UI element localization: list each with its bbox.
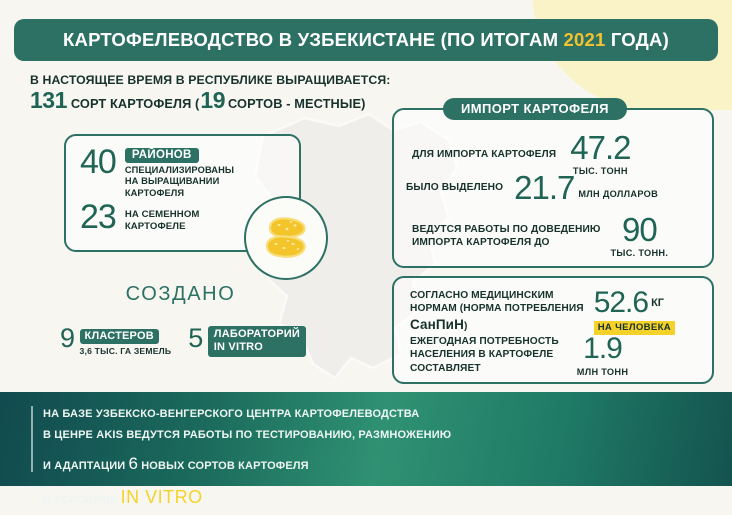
banner-in-vitro: IN VITRO	[121, 487, 203, 507]
import-volume-value: 47.2	[570, 132, 630, 163]
import-funds-label: БЫЛО ВЫДЕЛЕНО	[406, 181, 503, 194]
intro-block: В НАСТОЯЩЕЕ ВРЕМЯ В РЕСПУБЛИКЕ ВЫРАЩИВАЕ…	[30, 73, 390, 112]
districts-count-23: 23	[80, 200, 116, 234]
page-title: КАРТОФЕЛЕВОДСТВО В УЗБЕКИСТАНЕ (ПО ИТОГА…	[63, 29, 669, 51]
intro-line2: 131 СОРТ КАРТОФЕЛЯ ( 19 СОРТОВ - МЕСТНЫЕ…	[30, 90, 390, 112]
clusters-sublabel: 3,6 ТЫС. ГА ЗЕМЕЛЬ	[80, 346, 172, 356]
import-target-label: ВЕДУТСЯ РАБОТЫ ПО ДОВЕДЕНИЮИМПОРТА КАРТО…	[412, 223, 600, 250]
varieties-label: СОРТ КАРТОФЕЛЯ (	[71, 96, 200, 111]
norm-label-paren: )	[464, 321, 468, 332]
clusters-count: 9	[60, 326, 75, 351]
clusters-pill-label: КЛАСТЕРОВ	[80, 329, 159, 344]
created-items-row: 9 КЛАСТЕРОВ 3,6 ТЫС. ГА ЗЕМЕЛЬ 5 ЛАБОРАТ…	[60, 326, 306, 357]
potato-icon	[260, 215, 312, 261]
import-funds-value: 21.7	[514, 172, 574, 203]
norm-label-line2: НОРМАМ (НОРМА ПОТРЕБЛЕНИЯ	[410, 303, 584, 314]
norm-row-per-person: СОГЛАСНО МЕДИЦИНСКИМНОРМАМ (НОРМА ПОТРЕБ…	[410, 289, 675, 335]
seed-potato-description: НА СЕМЕННОМ КАРТОФЕЛЕ	[125, 209, 200, 234]
laboratories-pill-line1: ЛАБОРАТОРИЙ	[214, 328, 300, 340]
laboratories-pill-line2: IN VITRO	[214, 341, 263, 353]
districts-pill-label: РАЙОНОВ	[125, 148, 199, 164]
import-card-heading: ИМПОРТ КАРТОФЕЛЯ	[443, 98, 627, 120]
banner-line3-post: НОВЫХ СОРТОВ КАРТОФЕЛЯ	[138, 460, 309, 472]
banner-line1: НА БАЗЕ УЗБЕКСКО-ВЕНГЕРСКОГО ЦЕНТРА КАРТ…	[43, 404, 451, 425]
page-title-part2: ГОДА)	[606, 29, 669, 50]
varieties-count: 131	[30, 90, 67, 112]
import-row-target: ВЕДУТСЯ РАБОТЫ ПО ДОВЕДЕНИЮИМПОРТА КАРТО…	[412, 214, 668, 258]
created-item-clusters: 9 КЛАСТЕРОВ 3,6 ТЫС. ГА ЗЕМЕЛЬ	[60, 326, 171, 356]
import-target-label-line1: ВЕДУТСЯ РАБОТЫ ПО ДОВЕДЕНИЮ	[412, 224, 600, 235]
norm-unit: КГ	[651, 297, 664, 309]
annual-need-value: 1.9	[583, 335, 622, 364]
districts-count-40: 40	[80, 145, 116, 179]
banner-line4-pre: В УСЛОВИЯХ	[43, 494, 121, 506]
import-target-label-line2: ИМПОРТА КАРТОФЕЛЯ ДО	[412, 237, 550, 248]
banner-accent-line	[31, 406, 33, 472]
page-title-year: 2021	[564, 29, 606, 50]
created-item-laboratories: 5 ЛАБОРАТОРИЙIN VITRO	[188, 326, 306, 357]
import-volume-label: ДЛЯ ИМПОРТА КАРТОФЕЛЯ	[412, 148, 556, 161]
local-varieties-label: СОРТОВ - МЕСТНЫЕ)	[228, 96, 366, 111]
norm-label-line1: СОГЛАСНО МЕДИЦИНСКИМ	[410, 290, 554, 301]
norm-value: 52.6	[594, 289, 648, 318]
norm-row-annual-need: ЕЖЕГОДНАЯ ПОТРЕБНОСТЬНАСЕЛЕНИЯ В КАРТОФЕ…	[410, 335, 628, 377]
bottom-banner: НА БАЗЕ УЗБЕКСКО-ВЕНГЕРСКОГО ЦЕНТРА КАРТ…	[0, 392, 732, 486]
norm-label-sanpin: СанПиН	[410, 317, 464, 332]
annual-need-line3: СОСТАВЛЯЕТ	[410, 363, 481, 374]
laboratories-count: 5	[188, 326, 203, 351]
annual-need-label: ЕЖЕГОДНАЯ ПОТРЕБНОСТЬНАСЕЛЕНИЯ В КАРТОФЕ…	[410, 335, 559, 375]
banner-text: НА БАЗЕ УЗБЕКСКО-ВЕНГЕРСКОГО ЦЕНТРА КАРТ…	[43, 404, 451, 515]
potato-badge	[244, 196, 328, 280]
annual-need-line2: НАСЕЛЕНИЯ В КАРТОФЕЛЕ	[410, 349, 553, 360]
districts-row-seed: 23 НА СЕМЕННОМ КАРТОФЕЛЕ	[80, 200, 199, 234]
import-row-funds: БЫЛО ВЫДЕЛЕНО 21.7 МЛН ДОЛЛАРОВ	[406, 172, 658, 203]
banner-line4: В УСЛОВИЯХ IN VITRO	[43, 480, 451, 515]
page-title-part1: КАРТОФЕЛЕВОДСТВО В УЗБЕКИСТАНЕ (ПО ИТОГА…	[63, 29, 563, 50]
banner-line2: В ЦЕНРЕ AKIS ВЕДУТСЯ РАБОТЫ ПО ТЕСТИРОВА…	[43, 425, 451, 446]
banner-line3: И АДАПТАЦИИ 6 НОВЫХ СОРТОВ КАРТОФЕЛЯ	[43, 447, 451, 480]
consumption-norm-card: СОГЛАСНО МЕДИЦИНСКИМНОРМАМ (НОРМА ПОТРЕБ…	[392, 276, 714, 384]
annual-need-unit: МЛН ТОНН	[577, 367, 629, 377]
districts-row-specialized: 40 РАЙОНОВ СПЕЦИАЛИЗИРОВАНЫ НА ВЫРАЩИВАН…	[80, 145, 234, 199]
local-varieties-count: 19	[200, 90, 225, 112]
banner-new-varieties-count: 6	[129, 454, 138, 473]
import-card: ДЛЯ ИМПОРТА КАРТОФЕЛЯ 47.2 ТЫС. ТОНН БЫЛ…	[392, 108, 714, 268]
banner-line3-pre: И АДАПТАЦИИ	[43, 460, 129, 472]
import-target-value: 90	[622, 214, 657, 245]
districts-description: СПЕЦИАЛИЗИРОВАНЫ НА ВЫРАЩИВАНИИ КАРТОФЕЛ…	[125, 165, 234, 199]
import-funds-unit: МЛН ДОЛЛАРОВ	[578, 189, 658, 199]
intro-line1: В НАСТОЯЩЕЕ ВРЕМЯ В РЕСПУБЛИКЕ ВЫРАЩИВАЕ…	[30, 73, 390, 87]
page-title-bar: КАРТОФЕЛЕВОДСТВО В УЗБЕКИСТАНЕ (ПО ИТОГА…	[14, 19, 718, 61]
laboratories-pill: ЛАБОРАТОРИЙIN VITRO	[208, 326, 306, 357]
import-target-unit: ТЫС. ТОНН.	[610, 248, 668, 258]
norm-label: СОГЛАСНО МЕДИЦИНСКИМНОРМАМ (НОРМА ПОТРЕБ…	[410, 289, 584, 334]
annual-need-line1: ЕЖЕГОДНАЯ ПОТРЕБНОСТЬ	[410, 336, 559, 347]
created-section-title: СОЗДАНО	[64, 283, 297, 306]
